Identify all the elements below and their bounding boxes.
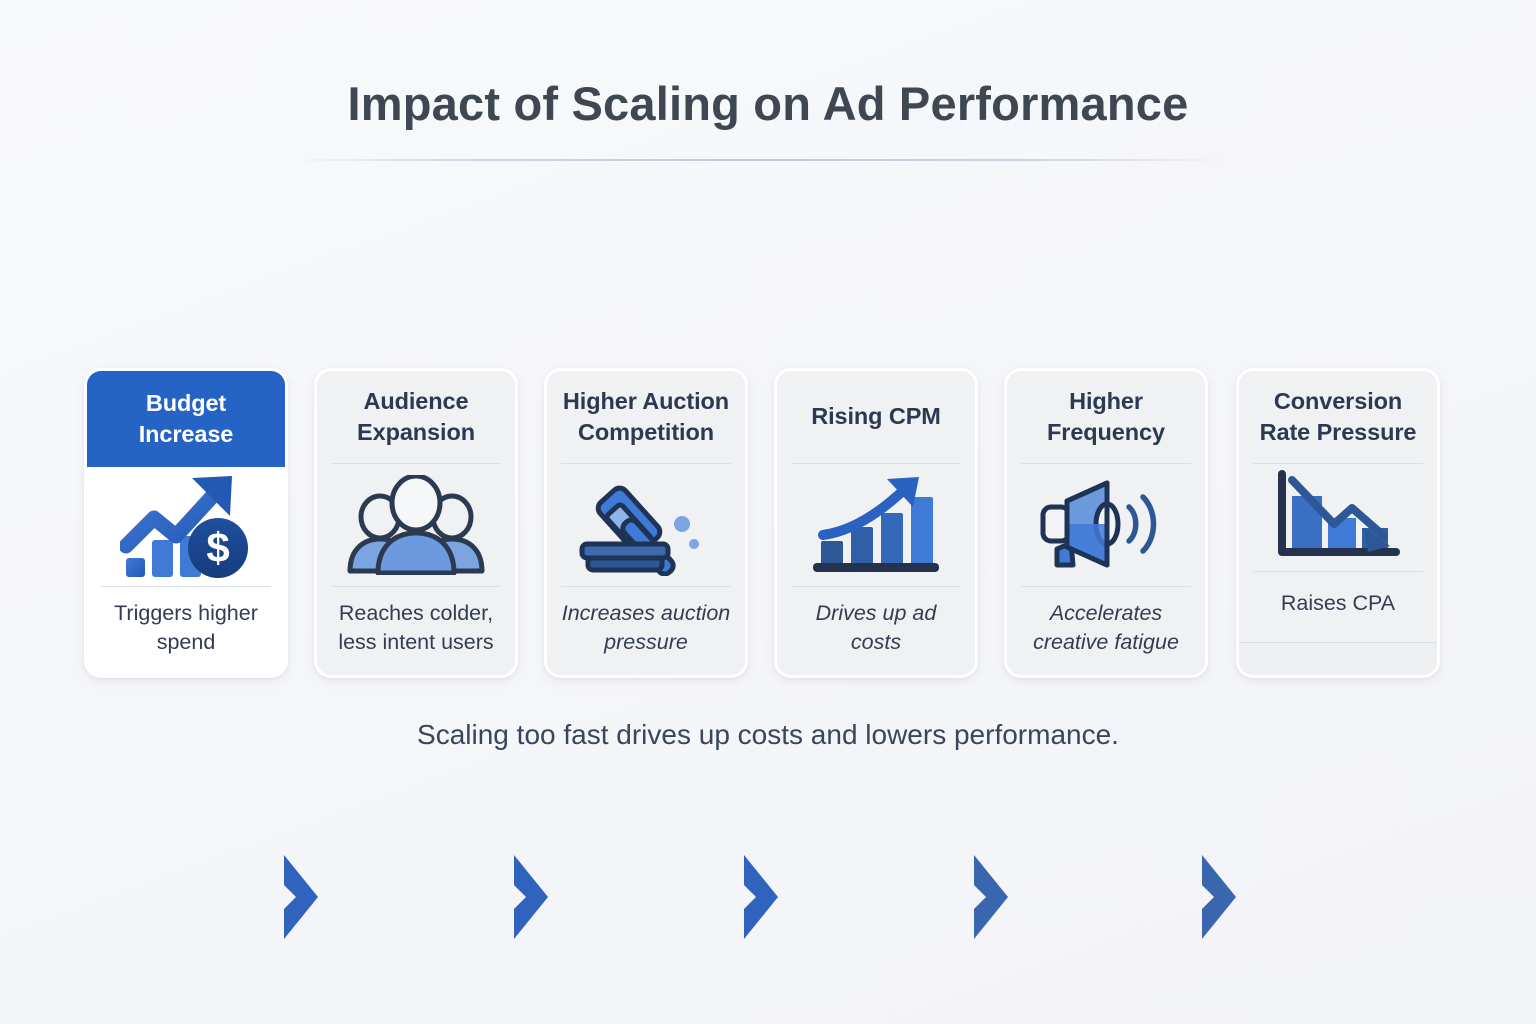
flow-step-caption: Raises CPA	[1281, 589, 1395, 618]
flow-step-title: Higher Auction Competition	[557, 386, 735, 448]
card-tail-strip	[1239, 642, 1437, 675]
chevron-right-icon	[738, 849, 786, 945]
flow-step-caption-wrap: Drives up ad costs	[777, 587, 975, 675]
megaphone-icon	[1007, 464, 1205, 586]
chevron-right-icon	[508, 849, 556, 945]
rising-bar-chart-icon	[777, 464, 975, 586]
flow-step-title: Higher Frequency	[1017, 386, 1195, 448]
flow-step-budget-increase[interactable]: Budget Increase	[84, 368, 288, 678]
flow-step-header: Audience Expansion	[317, 371, 515, 463]
diagram-canvas: Impact of Scaling on Ad Performance Budg…	[0, 0, 1536, 1024]
flow-step-higher-auction-competition[interactable]: Higher Auction Competition	[544, 368, 748, 678]
chevron-right-icon	[278, 849, 326, 945]
flow-step-header: Higher Frequency	[1007, 371, 1205, 463]
people-group-icon	[317, 464, 515, 586]
process-flow: Budget Increase	[84, 368, 1440, 682]
flow-step-title: Budget Increase	[97, 388, 275, 450]
flow-step-caption-wrap: Increases auction pressure	[547, 587, 745, 675]
flow-step-header: Higher Auction Competition	[547, 371, 745, 463]
gavel-icon	[547, 464, 745, 586]
flow-step-caption-wrap: Accelerates creative fatigue	[1007, 587, 1205, 675]
flow-step-header: Conversion Rate Pressure	[1239, 371, 1437, 463]
title-divider	[288, 159, 1233, 161]
flow-step-caption: Accelerates creative fatigue	[1019, 599, 1193, 657]
flow-step-title: Rising CPM	[811, 401, 941, 432]
flow-step-title: Audience Expansion	[327, 386, 505, 448]
growth-chart-dollar-icon: $	[87, 468, 285, 586]
page-title-block: Impact of Scaling on Ad Performance	[0, 78, 1536, 130]
flow-step-caption-wrap: Raises CPA	[1239, 572, 1437, 642]
flow-step-caption: Increases auction pressure	[559, 599, 733, 657]
flow-step-caption: Triggers higher spend	[99, 599, 273, 657]
flow-step-caption-wrap: Triggers higher spend	[87, 587, 285, 675]
flow-step-header: Budget Increase	[87, 371, 285, 467]
svg-text:$: $	[206, 524, 229, 571]
footer-summary: Scaling too fast drives up costs and low…	[417, 719, 1119, 750]
page-title: Impact of Scaling on Ad Performance	[0, 78, 1536, 130]
flow-step-rising-cpm[interactable]: Rising CPM Drives up ad costs	[774, 368, 978, 678]
flow-step-header: Rising CPM	[777, 371, 975, 463]
footer-summary-wrap: Scaling too fast drives up costs and low…	[0, 719, 1536, 751]
chevron-right-icon	[968, 849, 1016, 945]
flow-step-conversion-rate-pressure[interactable]: Conversion Rate Pressure Raises CPA	[1236, 368, 1440, 678]
flow-step-caption: Drives up ad costs	[789, 599, 963, 657]
flow-step-caption-wrap: Reaches colder, less intent users	[317, 587, 515, 675]
chevron-right-icon	[1196, 849, 1244, 945]
declining-chart-icon	[1239, 464, 1437, 571]
flow-step-title: Conversion Rate Pressure	[1249, 386, 1427, 448]
flow-step-caption: Reaches colder, less intent users	[329, 599, 503, 657]
flow-step-audience-expansion[interactable]: Audience Expansion Reaches colde	[314, 368, 518, 678]
flow-step-higher-frequency[interactable]: Higher Frequency	[1004, 368, 1208, 678]
